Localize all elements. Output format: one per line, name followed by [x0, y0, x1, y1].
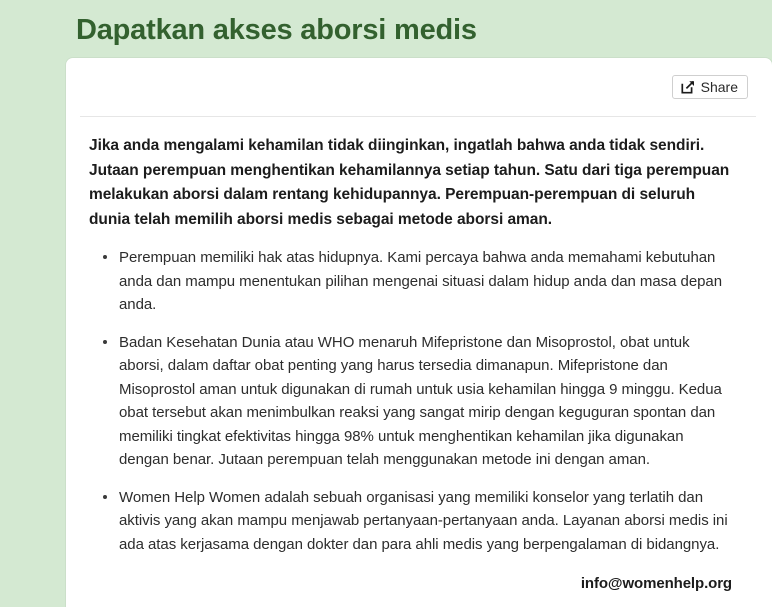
share-bar: Share: [78, 58, 758, 116]
list-item-text: Perempuan memiliki hak atas hidupnya. Ka…: [119, 249, 722, 313]
list-item-text: Women Help Women adalah sebuah organisas…: [119, 489, 728, 553]
intro-paragraph: Jika anda mengalami kehamilan tidak diin…: [89, 134, 736, 232]
list-item-text: Badan Kesehatan Dunia atau WHO menaruh M…: [119, 334, 722, 469]
bullet-icon: [103, 255, 107, 259]
page-title: Dapatkan akses aborsi medis: [76, 12, 477, 48]
share-button[interactable]: Share: [672, 75, 748, 99]
bullet-icon: [103, 340, 107, 344]
contact-email[interactable]: info@womenhelp.org: [89, 575, 736, 592]
bullet-icon: [103, 495, 107, 499]
list-item: Perempuan memiliki hak atas hidupnya. Ka…: [89, 246, 736, 317]
card-inner: Share Jika anda mengalami kehamilan tida…: [66, 58, 772, 607]
content-card: Share Jika anda mengalami kehamilan tida…: [66, 58, 772, 607]
article-content: Jika anda mengalami kehamilan tidak diin…: [78, 117, 758, 607]
share-icon: [681, 80, 695, 94]
list-item: Women Help Women adalah sebuah organisas…: [89, 486, 736, 557]
page-root: Dapatkan akses aborsi medis Share: [0, 0, 772, 607]
start-row: mulai: [89, 592, 736, 607]
share-button-label: Share: [701, 80, 738, 94]
key-points-list: Perempuan memiliki hak atas hidupnya. Ka…: [89, 246, 736, 556]
list-item: Badan Kesehatan Dunia atau WHO menaruh M…: [89, 331, 736, 472]
